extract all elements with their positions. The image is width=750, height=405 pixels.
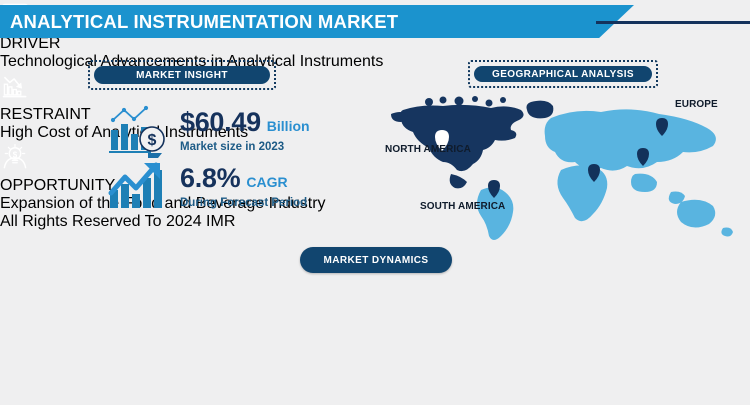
market-insight-pill: MARKET INSIGHT (94, 66, 270, 84)
stat-cagr-unit: CAGR (246, 175, 287, 189)
map-label-north-america: NORTH AMERICA (385, 144, 471, 155)
stat-cagr: 6.8% CAGR During Forecast Period (108, 160, 307, 214)
stat-market-size-text: $60.49 Billion Market size in 2023 (180, 109, 310, 153)
stat-market-size: $ $60.49 Billion Market size in 2023 (108, 104, 310, 158)
map-label-europe: EUROPE (675, 99, 718, 110)
market-insight-heading: MARKET INSIGHT (88, 60, 276, 90)
map-region-north-america (391, 96, 524, 188)
map-label-south-america: SOUTH AMERICA (420, 201, 505, 212)
page-title: ANALYTICAL INSTRUMENTATION MARKET (0, 11, 398, 33)
world-map-svg (385, 96, 750, 241)
svg-text:$: $ (148, 132, 157, 149)
map-region-new-zealand (721, 228, 733, 237)
map-region-australia (677, 200, 715, 228)
header-rule (596, 21, 750, 24)
stat-cagr-value: 6.8% (180, 165, 240, 192)
stat-market-size-caption: Market size in 2023 (180, 141, 310, 153)
header-band: ANALYTICAL INSTRUMENTATION MARKET (0, 5, 634, 38)
geographical-analysis-pill: GEOGRAPHICAL ANALYSIS (474, 66, 652, 82)
stat-market-size-value: $60.49 (180, 109, 261, 136)
map-region-africa (557, 165, 607, 221)
world-map: NORTH AMERICA SOUTH AMERICA EUROPE ASIA … (385, 96, 750, 241)
market-dynamics-label: MARKET DYNAMICS (324, 255, 429, 266)
market-dynamics-pill: MARKET DYNAMICS (300, 247, 452, 273)
map-region-india (631, 174, 657, 192)
stat-market-size-unit: Billion (267, 119, 310, 133)
geographical-analysis-label: GEOGRAPHICAL ANALYSIS (492, 69, 634, 80)
geographical-analysis-heading: GEOGRAPHICAL ANALYSIS (468, 60, 658, 88)
bar-chart-dollar-icon: $ (108, 104, 170, 158)
stat-cagr-text: 6.8% CAGR During Forecast Period (180, 165, 307, 209)
market-insight-label: MARKET INSIGHT (136, 70, 228, 81)
map-region-greenland (527, 101, 554, 119)
header: ANALYTICAL INSTRUMENTATION MARKET (0, 5, 750, 38)
growth-arrow-icon (108, 160, 170, 214)
map-region-eurasia (545, 109, 716, 170)
stat-cagr-caption: During Forecast Period (180, 197, 307, 209)
